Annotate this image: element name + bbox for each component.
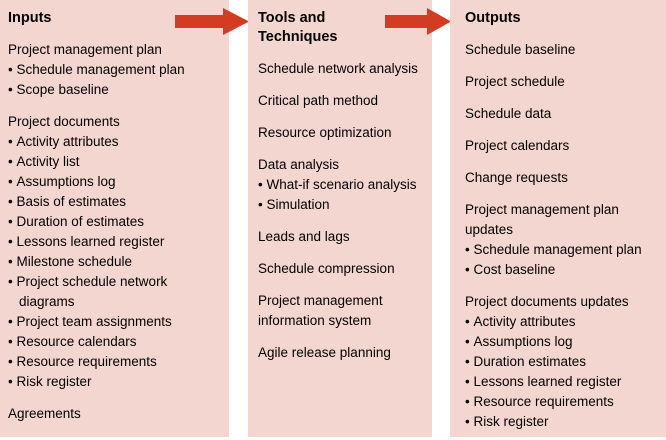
itto-sub-item: Schedule management plan xyxy=(465,240,658,260)
itto-group: Data analysisWhat-if scenario analysisSi… xyxy=(258,155,424,215)
itto-group: Schedule compression xyxy=(258,259,424,279)
itto-group: Schedule data xyxy=(465,104,658,124)
itto-sub-list: Schedule management planCost baseline xyxy=(465,240,658,280)
itto-sub-list: What-if scenario analysisSimulation xyxy=(258,175,424,215)
itto-group: Agreements xyxy=(8,404,221,424)
itto-group-head: Schedule compression xyxy=(258,259,424,279)
itto-group-head: Project management plan xyxy=(8,40,221,60)
itto-group-head: Project documents updates xyxy=(465,292,658,312)
itto-sub-item: Resource calendars xyxy=(8,332,221,352)
itto-sub-item: Activity attributes xyxy=(465,312,658,332)
itto-group: Resource optimization xyxy=(258,123,424,143)
itto-group: Change requests xyxy=(465,168,658,188)
itto-group-head: Data analysis xyxy=(258,155,424,175)
itto-sub-item: Duration of estimates xyxy=(8,212,221,232)
itto-group: Project documents updatesActivity attrib… xyxy=(465,292,658,432)
itto-sub-item: Lessons learned register xyxy=(465,372,658,392)
itto-sub-item: Basis of estimates xyxy=(8,192,221,212)
inputs-panel: Inputs Project management planSchedule m… xyxy=(0,0,229,437)
itto-sub-list: Activity attributesActivity listAssumpti… xyxy=(8,132,221,392)
itto-group: Leads and lags xyxy=(258,227,424,247)
itto-sub-item: Activity list xyxy=(8,152,221,172)
itto-sub-item: Risk register xyxy=(8,372,221,392)
itto-group: Project management planSchedule manageme… xyxy=(8,40,221,100)
itto-sub-item: Duration estimates xyxy=(465,352,658,372)
itto-sub-item: Project schedule network diagrams xyxy=(8,272,221,312)
itto-group-head: Project documents xyxy=(8,112,221,132)
itto-group-head: EEFs xyxy=(8,436,221,437)
inputs-group-list: Project management planSchedule manageme… xyxy=(8,40,221,437)
outputs-group-list: Schedule baselineProject scheduleSchedul… xyxy=(465,40,658,432)
itto-group: Project documentsActivity attributesActi… xyxy=(8,112,221,392)
itto-sub-item: Risk register xyxy=(465,412,658,432)
itto-group-head: Leads and lags xyxy=(258,227,424,247)
itto-sub-item: Scope baseline xyxy=(8,80,221,100)
itto-group: Project calendars xyxy=(465,136,658,156)
tools-and-techniques-group-list: Schedule network analysisCritical path m… xyxy=(258,59,424,363)
itto-group-head: Agreements xyxy=(8,404,221,424)
itto-group-head: Project calendars xyxy=(465,136,658,156)
itto-diagram: Inputs Project management planSchedule m… xyxy=(0,0,666,440)
itto-sub-item: Project team assignments xyxy=(8,312,221,332)
itto-group: Project schedule xyxy=(465,72,658,92)
itto-sub-list: Schedule management planScope baseline xyxy=(8,60,221,100)
itto-sub-item: What-if scenario analysis xyxy=(258,175,424,195)
itto-group-head: Project management plan updates xyxy=(465,200,658,240)
itto-sub-item: Resource requirements xyxy=(8,352,221,372)
itto-group: Agile release planning xyxy=(258,343,424,363)
itto-sub-item: Activity attributes xyxy=(8,132,221,152)
arrow-right-icon xyxy=(385,8,451,35)
itto-group-head: Resource optimization xyxy=(258,123,424,143)
itto-sub-item: Lessons learned register xyxy=(8,232,221,252)
outputs-panel: Outputs Schedule baselineProject schedul… xyxy=(450,0,666,437)
itto-group-head: Schedule network analysis xyxy=(258,59,424,79)
itto-group: EEFs xyxy=(8,436,221,437)
itto-sub-list: Activity attributesAssumptions logDurati… xyxy=(465,312,658,432)
itto-group: Schedule baseline xyxy=(465,40,658,60)
tools-and-techniques-panel: Tools and Techniques Schedule network an… xyxy=(248,0,432,437)
itto-sub-item: Simulation xyxy=(258,195,424,215)
itto-group: Project management plan updatesSchedule … xyxy=(465,200,658,280)
itto-group-head: Project schedule xyxy=(465,72,658,92)
itto-group-head: Agile release planning xyxy=(258,343,424,363)
itto-sub-item: Assumptions log xyxy=(8,172,221,192)
itto-sub-item: Milestone schedule xyxy=(8,252,221,272)
itto-group: Project management information system xyxy=(258,291,424,331)
itto-group-head: Schedule baseline xyxy=(465,40,658,60)
itto-group-head: Critical path method xyxy=(258,91,424,111)
outputs-panel-title: Outputs xyxy=(465,9,658,28)
itto-sub-item: Schedule management plan xyxy=(8,60,221,80)
itto-group-head: Project management information system xyxy=(258,291,424,331)
arrow-right-icon xyxy=(175,8,249,35)
itto-sub-item: Cost baseline xyxy=(465,260,658,280)
itto-group-head: Change requests xyxy=(465,168,658,188)
itto-sub-item: Assumptions log xyxy=(465,332,658,352)
itto-sub-item: Resource requirements xyxy=(465,392,658,412)
itto-group-head: Schedule data xyxy=(465,104,658,124)
itto-group: Critical path method xyxy=(258,91,424,111)
itto-group: Schedule network analysis xyxy=(258,59,424,79)
